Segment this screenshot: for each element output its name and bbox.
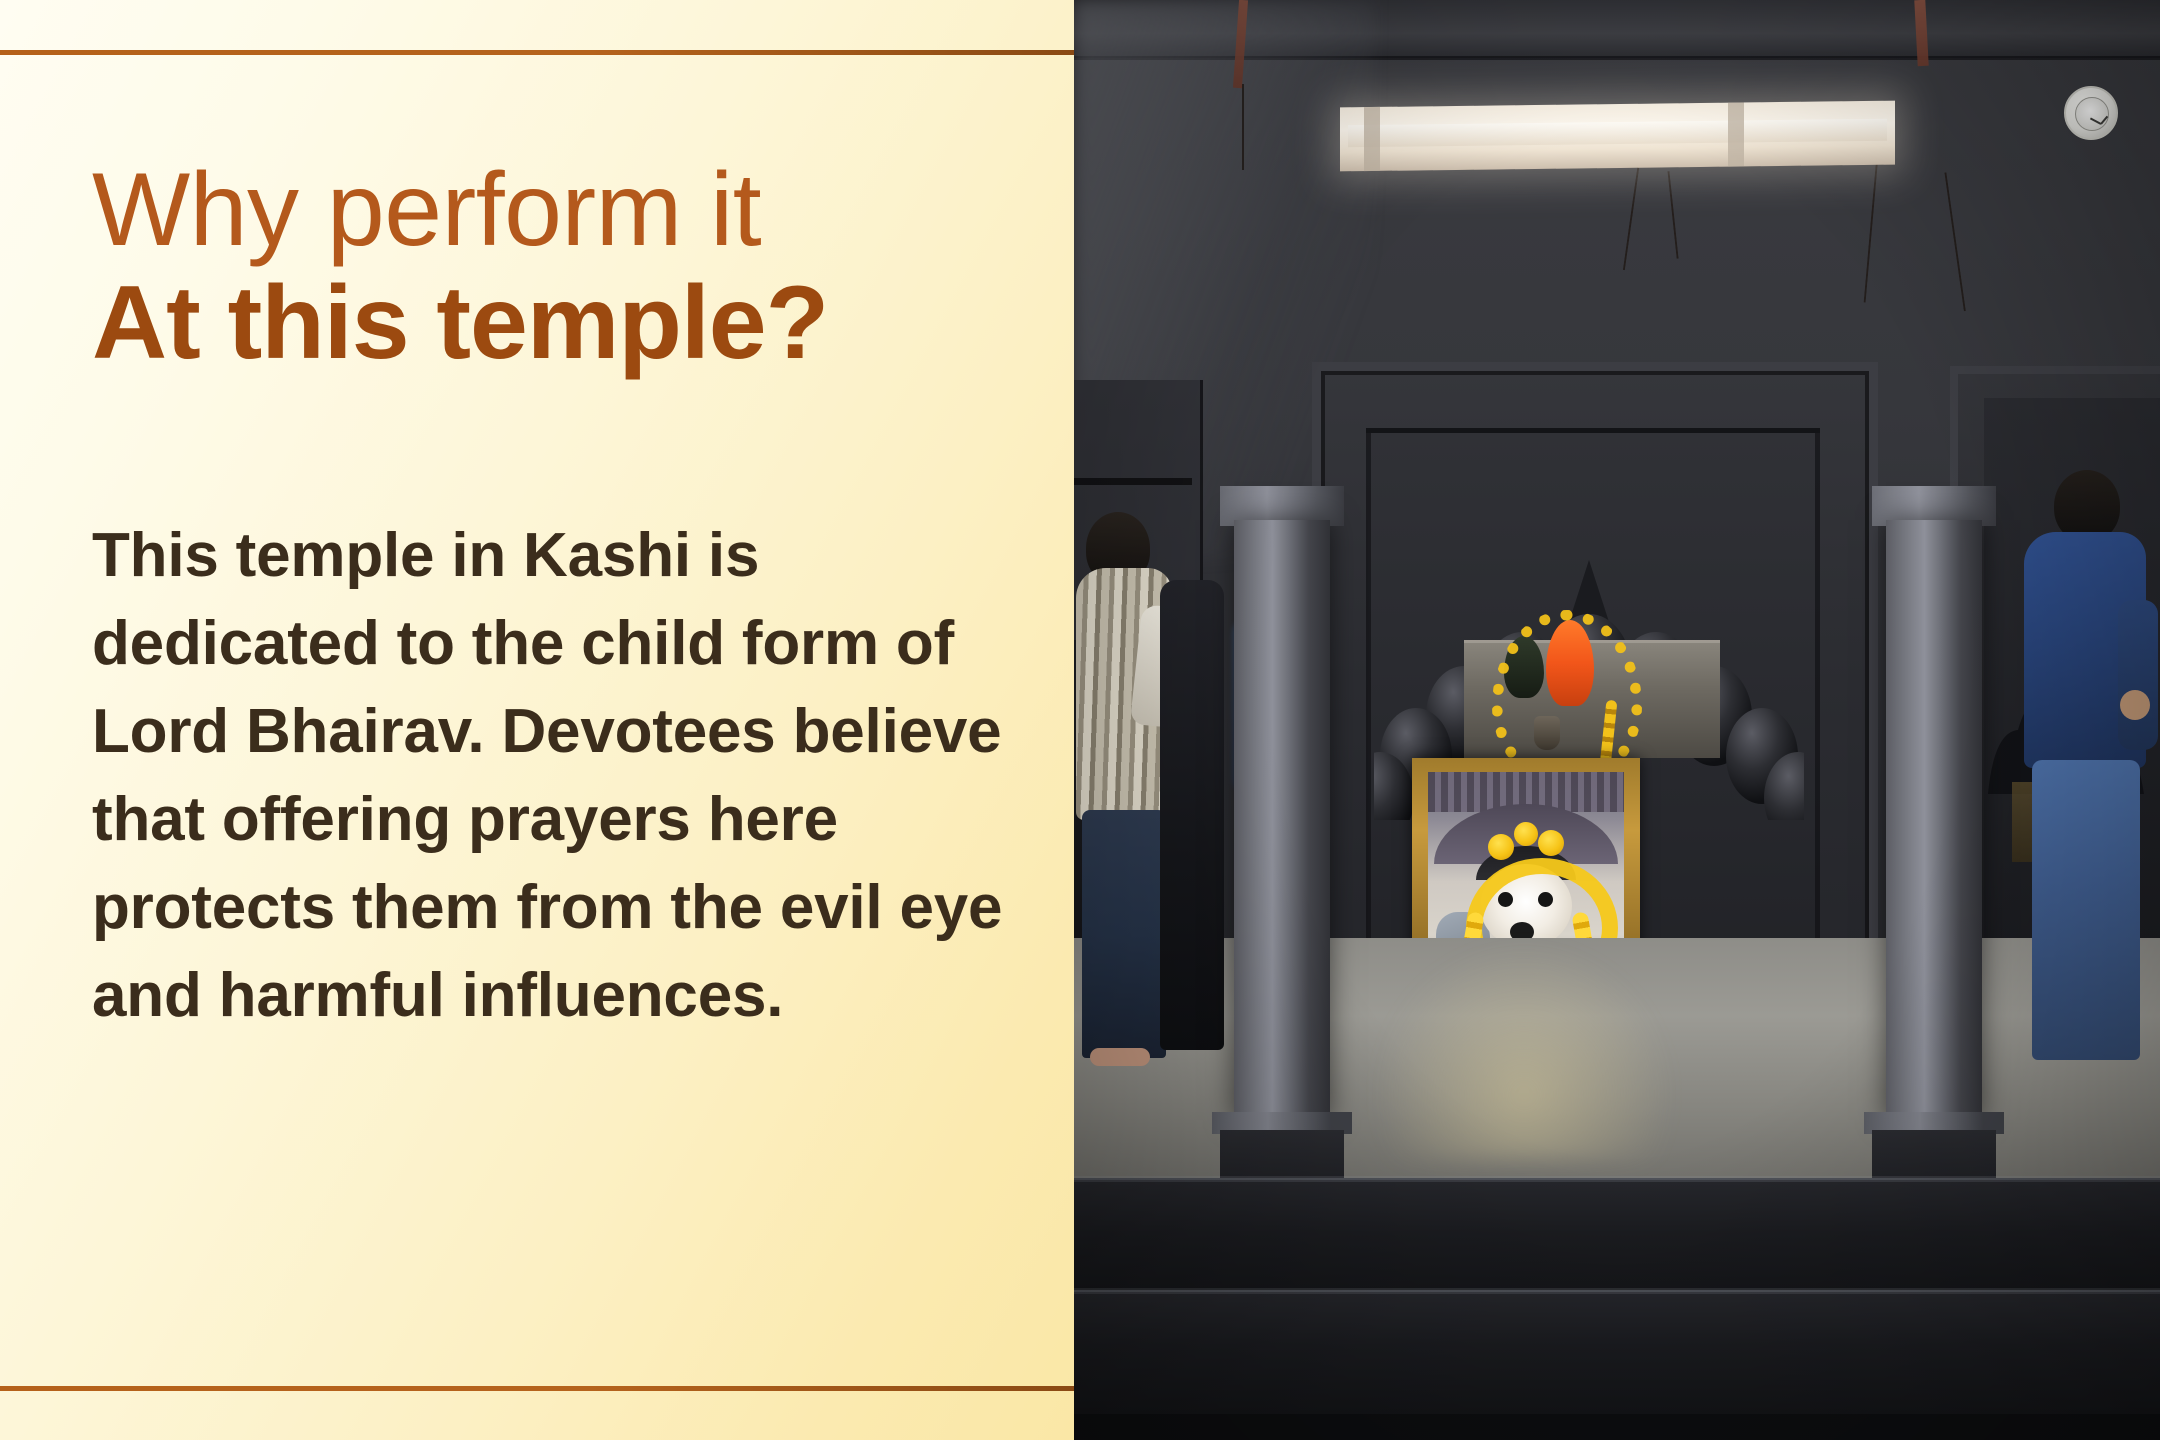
blue-shirt-man-jeans [2032,760,2140,1060]
page-title: Why perform it At this temple? [92,155,1052,382]
dark-clothed-man [1160,580,1224,1050]
left-wall-groove [1074,478,1192,485]
right-pillar-shaft [1886,520,1982,1120]
top-divider-rule [0,50,1074,55]
floor-light-reflection [1374,940,1674,1160]
tube-clip-left [1364,107,1380,171]
striped-shirt-man-legs [1082,810,1166,1058]
bottom-divider-rule [0,1386,1074,1391]
marigold-flower-2 [1538,830,1564,856]
headline-line-2: At this temple? [92,265,1052,381]
marigold-flower-3 [1514,822,1538,846]
left-pillar-shaft [1234,520,1330,1120]
clock-hand-hour [2090,117,2102,124]
marigold-flower-1 [1488,834,1514,860]
marble-step-upper [1074,1178,2160,1300]
floor-base-shadow [1074,1414,2160,1440]
blue-shirt-man-arm [2118,600,2158,750]
step-edge-upper [1074,1176,2160,1182]
temple-photo [1074,0,2160,1440]
text-panel: Why perform it At this temple? This temp… [0,0,1074,1440]
body-paragraph: This temple in Kashi is dedicated to the… [92,512,1022,1040]
wall-clock-disc [2064,86,2118,140]
tube-light-inner [1348,119,1887,148]
step-edge-lower [1074,1288,2160,1294]
headline-line-1: Why perform it [92,155,1052,265]
slide-canvas: Why perform it At this temple? This temp… [0,0,2160,1440]
wall-clock-face [2075,97,2109,131]
clock-hand-minute [2100,116,2108,125]
temple-bell [1534,716,1560,750]
fluorescent-tube-light [1340,101,1895,172]
striped-shirt-man-sandal [1090,1048,1150,1066]
marble-step-lower [1074,1290,2160,1414]
blue-shirt-man-hand [2120,690,2150,720]
tube-clip-right [1728,102,1744,166]
